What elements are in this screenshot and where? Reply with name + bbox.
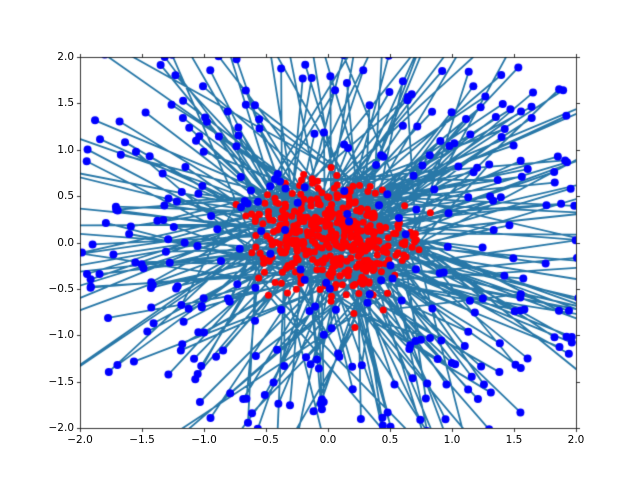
x-tick-label: −1.0: [191, 435, 217, 446]
scatter-link-plot-canvas: [0, 0, 640, 480]
y-tick-label: 0.5: [57, 191, 74, 202]
y-tick-label: −1.5: [49, 376, 75, 387]
y-tick-label: −1.0: [49, 330, 75, 341]
x-tick-label: −0.5: [253, 435, 279, 446]
y-tick-label: −0.5: [49, 284, 75, 295]
x-tick-label: 2.0: [568, 435, 585, 446]
y-tick-label: 0.0: [57, 237, 74, 248]
x-tick-label: 1.5: [506, 435, 523, 446]
y-tick-label: 1.0: [57, 145, 74, 156]
x-tick-label: 1.0: [444, 435, 461, 446]
x-tick-label: 0.0: [320, 435, 337, 446]
y-tick-label: 2.0: [57, 52, 74, 63]
x-tick-label: 0.5: [382, 435, 399, 446]
x-tick-label: −2.0: [67, 435, 93, 446]
matplotlib-figure: −2.0−1.5−1.0−0.50.00.51.01.52.0 −2.0−1.5…: [0, 0, 640, 480]
y-tick-label: 1.5: [57, 98, 74, 109]
x-tick-label: −1.5: [129, 435, 155, 446]
y-tick-label: −2.0: [49, 423, 75, 434]
